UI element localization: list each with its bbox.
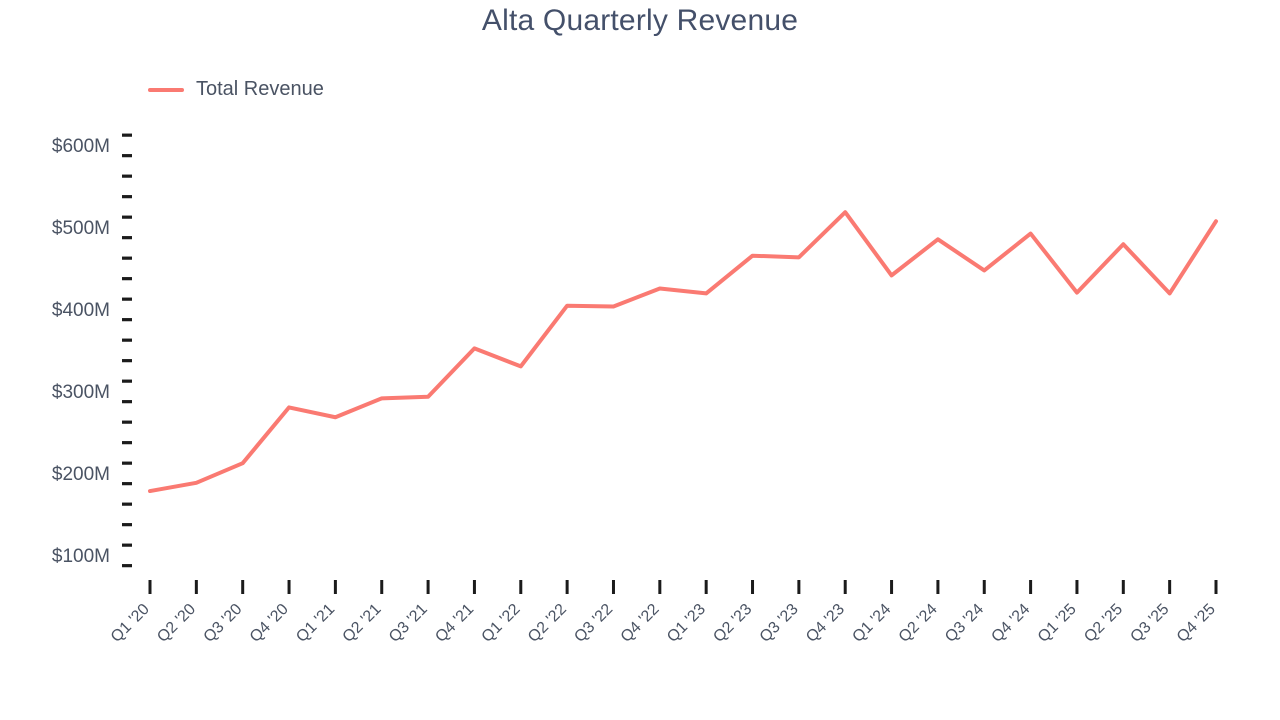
x-axis-tick-label: Q1 '24	[849, 601, 894, 646]
y-axis-tick-label: $200M	[52, 464, 110, 485]
x-axis-tick-label: Q2 '25	[1081, 601, 1126, 646]
x-axis-tick-label: Q3 '22	[571, 601, 616, 646]
chart-container: Alta Quarterly Revenue Total Revenue $60…	[0, 0, 1280, 720]
x-axis: Q1 '20Q2 '20Q3 '20Q4 '20Q1 '21Q2 '21Q3 '…	[108, 580, 1219, 646]
x-axis-tick-label: Q1 '22	[479, 601, 524, 646]
x-axis-tick-label: Q4 '22	[618, 601, 663, 646]
x-axis-tick-label: Q1 '23	[664, 601, 709, 646]
y-axis-tick-label: $100M	[52, 546, 110, 567]
x-axis-tick-label: Q3 '24	[942, 601, 987, 646]
x-axis-tick-label: Q2 '21	[340, 601, 385, 646]
x-axis-tick-label: Q3 '25	[1127, 601, 1172, 646]
y-axis: $600M$500M$400M$300M$200M$100M	[52, 135, 132, 567]
x-axis-tick-label: Q1 '21	[293, 601, 338, 646]
x-axis-tick-label: Q2 '24	[896, 601, 941, 646]
chart-plot-area: $600M$500M$400M$300M$200M$100M Q1 '20Q2 …	[0, 0, 1280, 720]
x-axis-tick-label: Q3 '21	[386, 601, 431, 646]
x-axis-tick-label: Q2 '23	[710, 601, 755, 646]
x-axis-tick-label: Q4 '24	[988, 601, 1033, 646]
x-axis-tick-label: Q4 '23	[803, 601, 848, 646]
x-axis-tick-label: Q4 '20	[247, 601, 292, 646]
x-axis-tick-label: Q3 '20	[201, 601, 246, 646]
x-axis-tick-label: Q3 '23	[757, 601, 802, 646]
x-axis-tick-label: Q4 '21	[432, 601, 477, 646]
x-axis-tick-label: Q2 '22	[525, 601, 570, 646]
series-group	[150, 212, 1216, 491]
x-axis-tick-label: Q1 '25	[1035, 601, 1080, 646]
x-axis-tick-label: Q4 '25	[1174, 601, 1219, 646]
series-line-total-revenue	[150, 212, 1216, 491]
y-axis-tick-label: $400M	[52, 300, 110, 321]
y-axis-tick-label: $300M	[52, 382, 110, 403]
x-axis-tick-label: Q1 '20	[108, 601, 153, 646]
x-axis-tick-label: Q2 '20	[154, 601, 199, 646]
y-axis-tick-label: $500M	[52, 218, 110, 239]
y-axis-tick-label: $600M	[52, 136, 110, 157]
